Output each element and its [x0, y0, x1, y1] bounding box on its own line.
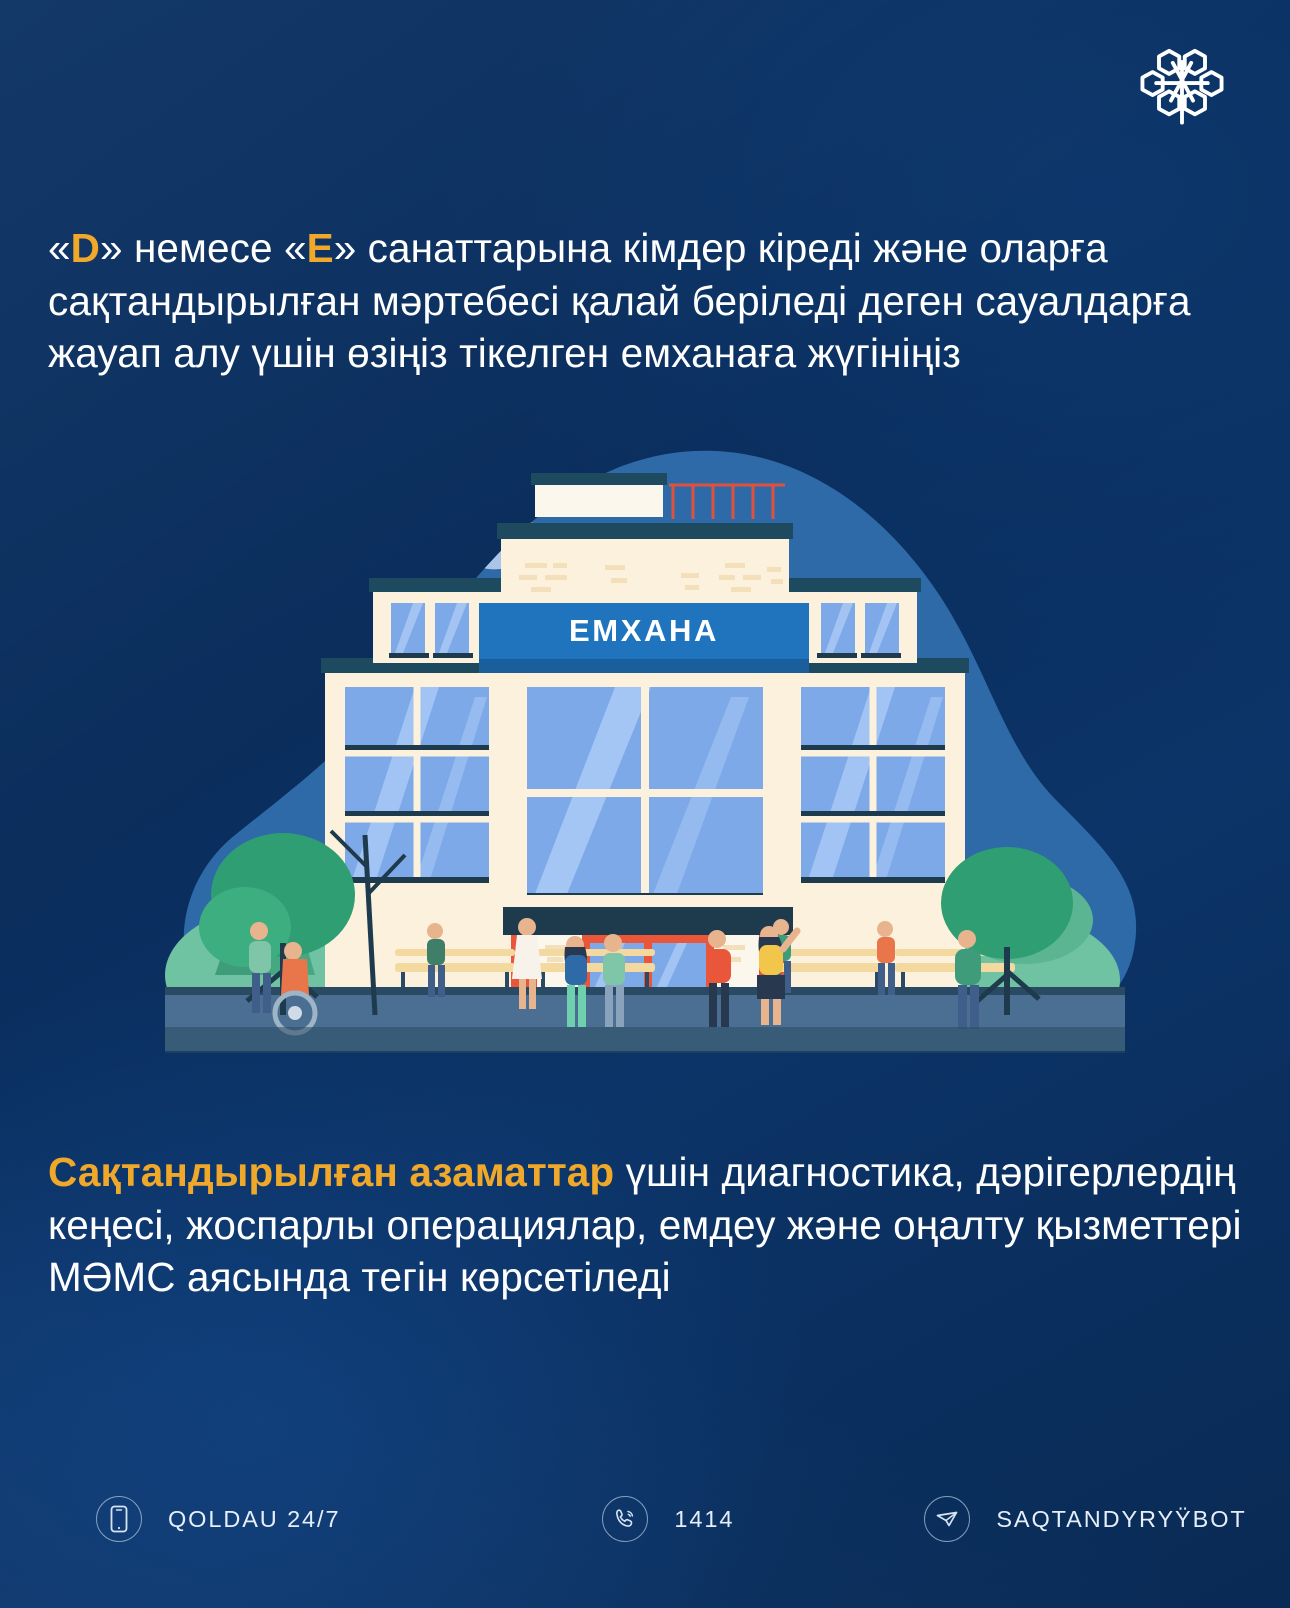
phone-call-icon: [602, 1496, 648, 1542]
headline-highlight-e: E: [307, 225, 334, 271]
footer-item-qoldau[interactable]: QOLDAU 24/7: [96, 1496, 340, 1542]
headline-middle: » немесе «: [100, 225, 307, 271]
sign-label: ЕМХАНА: [569, 613, 719, 648]
headline-highlight-d: D: [71, 225, 100, 271]
footer-label-qoldau: QOLDAU 24/7: [168, 1506, 340, 1533]
clinic-illustration: ЕМХАНА: [95, 415, 1195, 1115]
telegram-paper-plane-icon: [924, 1496, 970, 1542]
footer-label-telegram: SAQTANDYRYŸBOT: [996, 1506, 1246, 1533]
headline-prefix: «: [48, 225, 71, 271]
lower-text-block: Сақтандырылған азаматтар үшін диагностик…: [48, 1146, 1258, 1304]
wing-glass-right: [801, 687, 945, 883]
footer-label-phone: 1414: [674, 1506, 734, 1533]
footer-item-phone[interactable]: 1414: [602, 1496, 734, 1542]
poster-canvas: «D» немесе «E» санаттарына кімдер кіреді…: [0, 0, 1290, 1608]
central-glass: [527, 687, 763, 899]
mobile-phone-icon: [96, 1496, 142, 1542]
building-sign: ЕМХАНА: [479, 603, 809, 673]
footer-bar: QOLDAU 24/7 1414 SAQTANDYRYŸBOT: [0, 1496, 1290, 1542]
headline-text: «D» немесе «E» санаттарына кімдер кіреді…: [48, 222, 1248, 380]
lower-text-highlight: Сақтандырылған азаматтар: [48, 1149, 614, 1195]
fomc-snowflake-logo-icon: [1136, 38, 1228, 130]
footer-item-telegram[interactable]: SAQTANDYRYŸBOT: [924, 1496, 1246, 1542]
